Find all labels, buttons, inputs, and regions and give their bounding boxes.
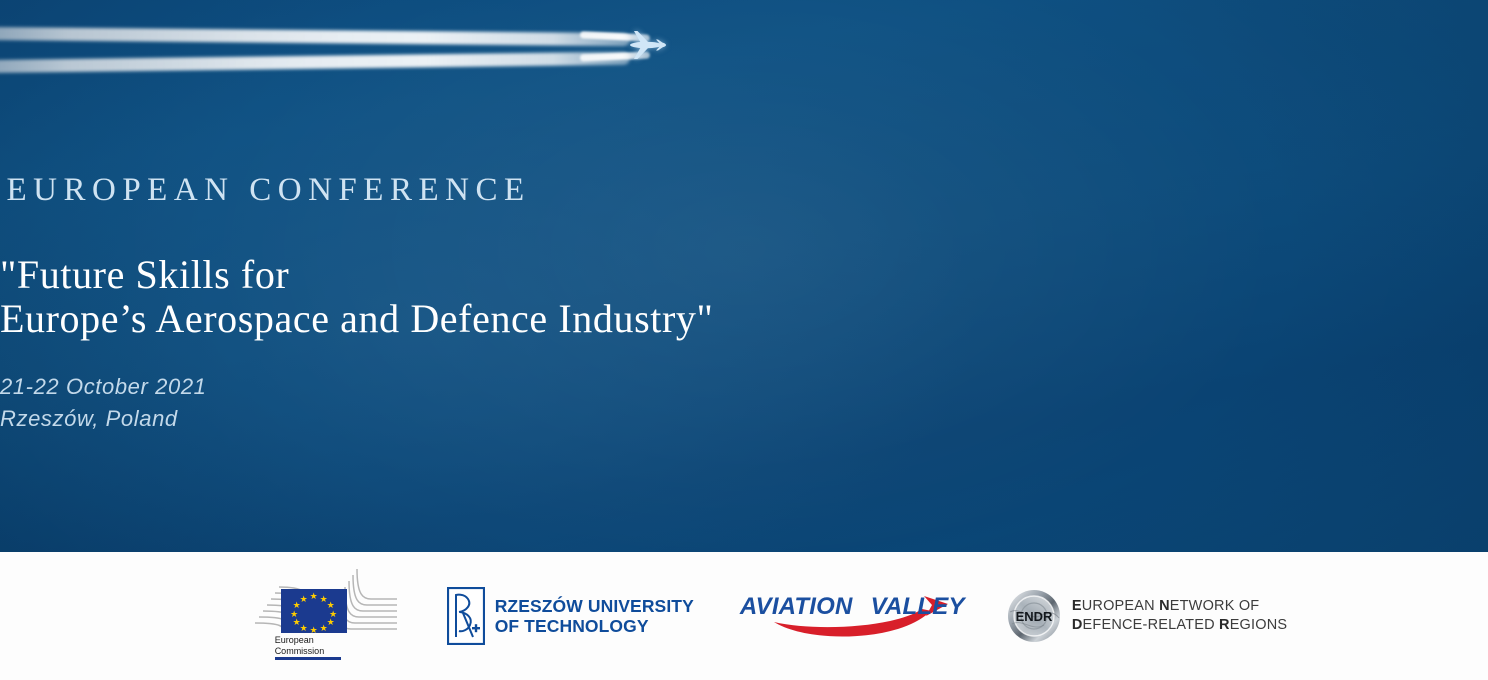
av-word-1: AVIATION: [740, 593, 853, 620]
endr-line-2-cap-r: R: [1219, 617, 1230, 633]
event-details: 21-22 October 2021 Rzeszów, Poland: [0, 371, 1488, 435]
endr-line-2-rest: EFENCE-RELATED: [1083, 617, 1219, 633]
ec-underline-bar: [275, 657, 341, 660]
endr-text: EUROPEAN NETWORK OF DEFENCE-RELATED REGI…: [1072, 597, 1287, 635]
event-date: 21-22 October 2021: [0, 371, 1488, 403]
airplane-icon: [612, 24, 674, 66]
logo-footer: ★ ★ ★ ★ ★ ★ ★ ★ ★ ★ ★ ★ European Commiss…: [0, 552, 1488, 680]
ec-caption: European Commission: [275, 635, 359, 656]
logo-european-commission: ★ ★ ★ ★ ★ ★ ★ ★ ★ ★ ★ ★ European Commiss…: [245, 565, 405, 667]
ec-caption-line-2: Commission: [275, 646, 325, 656]
eu-flag-icon: ★ ★ ★ ★ ★ ★ ★ ★ ★ ★ ★ ★: [281, 589, 347, 633]
endr-line-2-cap-d: D: [1072, 617, 1083, 633]
endr-line-1: EUROPEAN NETWORK OF: [1072, 597, 1287, 616]
event-location: Rzeszów, Poland: [0, 403, 1488, 435]
av-word-2: VALLEY: [871, 593, 965, 620]
endr-line-1-cap-e: E: [1072, 598, 1082, 614]
endr-emblem-icon: ENDR: [1006, 588, 1062, 644]
endr-line-1-cap-n: N: [1159, 598, 1170, 614]
rzeszow-monogram-icon: [447, 587, 485, 645]
logo-endr: ENDR EUROPEAN NETWORK OF DEFENCE-RELATED…: [1006, 585, 1287, 647]
aviation-valley-text: AVIATIONVALLEY: [740, 593, 965, 621]
sponsor-logo-row: ★ ★ ★ ★ ★ ★ ★ ★ ★ ★ ★ ★ European Commiss…: [0, 552, 1488, 680]
page-title-line-1: "Future Skills for: [0, 254, 1488, 295]
logo-aviation-valley: AVIATIONVALLEY: [736, 590, 964, 642]
logo-rzeszow-university: RZESZÓW UNIVERSITY OF TECHNOLOGY: [447, 585, 694, 647]
conference-banner: EUROPEAN CONFERENCE "Future Skills for E…: [0, 0, 1488, 680]
svg-text:ENDR: ENDR: [1015, 609, 1052, 624]
ec-caption-line-1: European: [275, 635, 314, 645]
page-title-kicker: EUROPEAN CONFERENCE: [0, 172, 1488, 209]
contrail-upper: [0, 27, 630, 46]
page-title: "Future Skills for Europe’s Aerospace an…: [0, 254, 1488, 339]
endr-line-2-rest-2: EGIONS: [1230, 617, 1288, 633]
contrail-lower: [0, 52, 630, 73]
page-title-line-2: Europe’s Aerospace and Defence Industry": [0, 298, 1488, 339]
rzeszow-university-text: RZESZÓW UNIVERSITY OF TECHNOLOGY: [495, 596, 694, 636]
rut-line-2: OF TECHNOLOGY: [495, 616, 694, 636]
rut-line-1: RZESZÓW UNIVERSITY: [495, 596, 694, 616]
endr-line-2: DEFENCE-RELATED REGIONS: [1072, 616, 1287, 635]
endr-line-1-rest: UROPEAN: [1082, 598, 1159, 614]
endr-line-1-rest-2: ETWORK OF: [1170, 598, 1260, 614]
